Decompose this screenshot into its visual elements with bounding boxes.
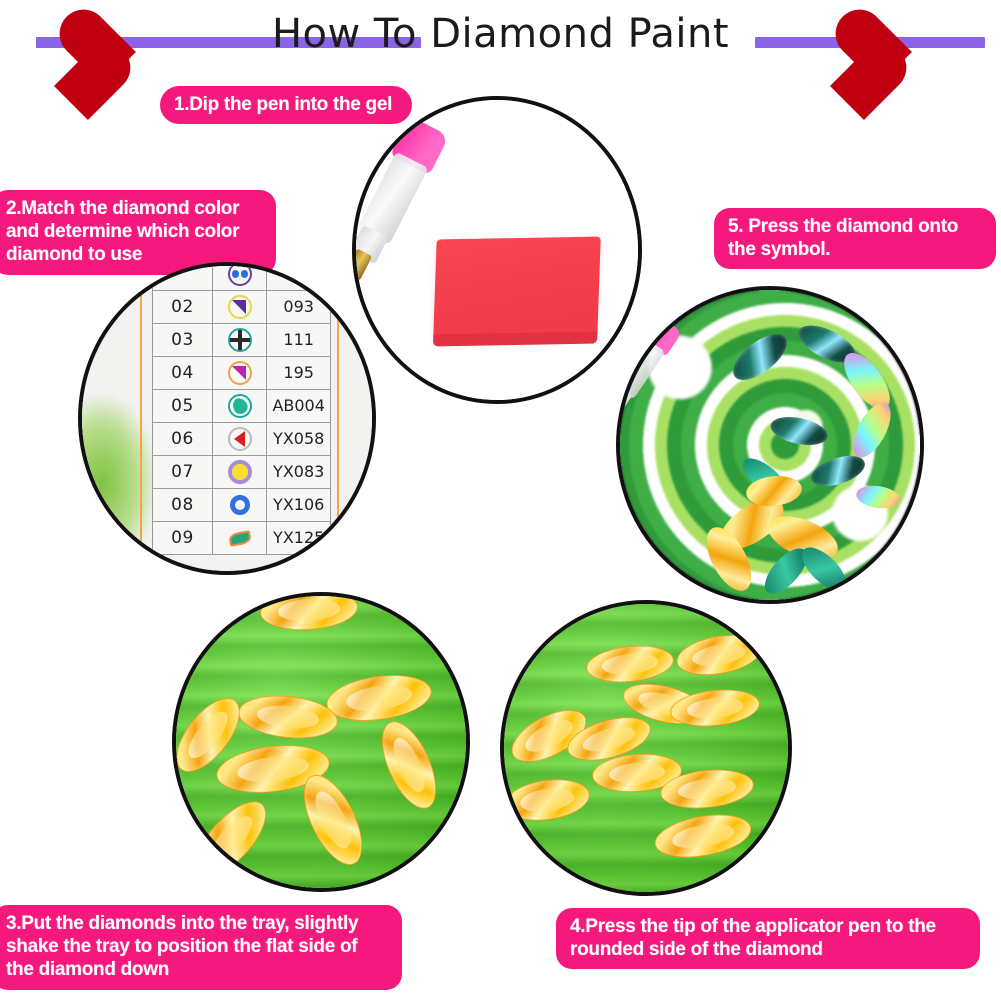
magenta-triangle-icon <box>228 361 252 385</box>
row-code: 195 <box>267 356 331 389</box>
row-code: YX083 <box>267 455 331 488</box>
row-code: YX106 <box>267 488 331 521</box>
step-5-label: 5. Press the diamond onto the symbol. <box>714 208 996 269</box>
step-4-photo-pen-on-diamond <box>500 600 792 896</box>
table-row: 028 <box>152 262 331 290</box>
row-symbol <box>213 262 267 290</box>
row-code: 111 <box>267 323 331 356</box>
row-number: 04 <box>152 356 213 389</box>
step-3-photo-diamonds-in-tray <box>172 592 470 892</box>
color-chart-table: 028 02 093 03 <box>152 262 332 555</box>
table-row: 05 AB004 <box>152 389 331 422</box>
step-2-photo-color-chart: 028 02 093 03 <box>78 262 376 575</box>
row-symbol <box>213 290 267 323</box>
purple-triangle-icon <box>228 295 252 319</box>
row-code: YX125 <box>267 521 331 554</box>
plus-icon <box>228 328 252 352</box>
row-number <box>152 262 213 290</box>
table-row: 02 093 <box>152 290 331 323</box>
table-row: 04 195 <box>152 356 331 389</box>
table-row: 09 YX125 <box>152 521 331 554</box>
table-row: 08 YX106 <box>152 488 331 521</box>
teal-oval-icon <box>228 394 252 418</box>
step-5-photo-diamond-onto-symbol <box>616 286 924 604</box>
row-symbol <box>213 422 267 455</box>
sheet-rule-right <box>337 266 339 571</box>
step-1-photo-pen-in-gel <box>352 96 642 404</box>
row-symbol <box>213 356 267 389</box>
row-code: 093 <box>267 290 331 323</box>
row-code: 028 <box>267 262 331 290</box>
blue-donut-icon <box>228 493 252 517</box>
row-symbol <box>213 488 267 521</box>
step-4-label: 4.Press the tip of the applicator pen to… <box>556 908 980 969</box>
step-3-label: 3.Put the diamonds into the tray, slight… <box>0 905 402 990</box>
row-symbol <box>213 323 267 356</box>
chart-sheet: 028 02 093 03 <box>82 266 372 571</box>
row-number: 02 <box>152 290 213 323</box>
row-number: 06 <box>152 422 213 455</box>
row-number: 07 <box>152 455 213 488</box>
row-symbol <box>213 455 267 488</box>
row-number: 03 <box>152 323 213 356</box>
row-code: YX058 <box>267 422 331 455</box>
row-number: 05 <box>152 389 213 422</box>
gel-square <box>433 237 600 339</box>
row-code: AB004 <box>267 389 331 422</box>
two-dots-icon <box>228 262 252 286</box>
row-number: 08 <box>152 488 213 521</box>
sheet-rule-left <box>140 266 142 571</box>
table-row: 06 YX058 <box>152 422 331 455</box>
row-symbol <box>213 521 267 554</box>
infographic-canvas: How To Diamond Paint 1.Dip the pen into … <box>0 0 1001 1001</box>
row-number: 09 <box>152 521 213 554</box>
table-row: 03 111 <box>152 323 331 356</box>
yellow-dot-icon <box>228 460 252 484</box>
page-title: How To Diamond Paint <box>0 11 1001 57</box>
table-row: 07 YX083 <box>152 455 331 488</box>
teal-leaf-icon <box>228 526 252 550</box>
red-chevron-icon <box>228 427 252 451</box>
row-symbol <box>213 389 267 422</box>
sheet-green-blur <box>78 394 157 571</box>
